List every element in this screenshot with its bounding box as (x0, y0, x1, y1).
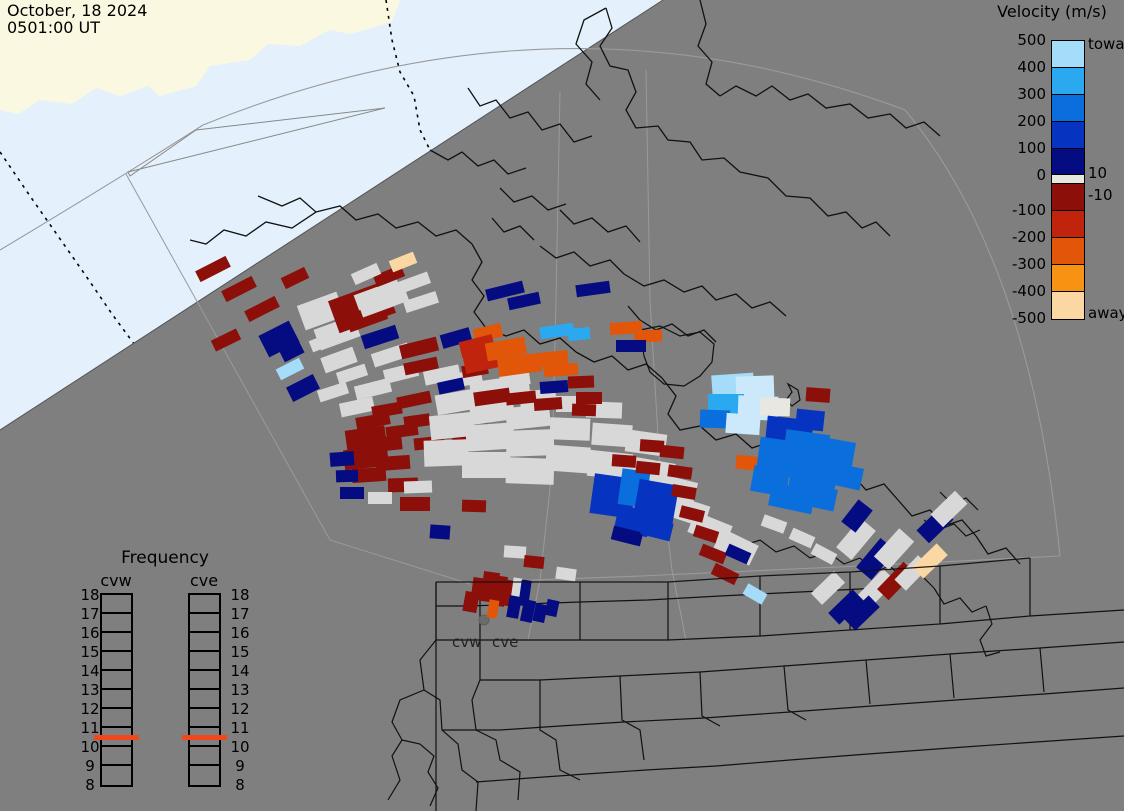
frequency-cell (190, 614, 219, 633)
frequency-scale-label: 14 (228, 662, 252, 680)
frequency-scale-label: 16 (78, 624, 102, 642)
velocity-colorbar-segment (1052, 265, 1084, 292)
radar-velocity-cell (545, 444, 591, 473)
frequency-scale-label: 14 (78, 662, 102, 680)
velocity-colorbar-segment (1052, 68, 1084, 95)
radar-velocity-cell (576, 392, 602, 404)
page-title-date: October, 18 2024 (7, 2, 147, 19)
velocity-tick-label: -400 (1012, 282, 1046, 300)
radar-velocity-cell (567, 327, 590, 341)
radar-velocity-cell (504, 545, 527, 559)
frequency-scale-label: 11 (228, 719, 252, 737)
radar-velocity-cell (700, 409, 731, 428)
frequency-scale-label: 10 (228, 738, 252, 756)
frequency-scale-label: 13 (228, 681, 252, 699)
velocity-colorbar-segment (1052, 211, 1084, 238)
frequency-cell (102, 652, 131, 671)
frequency-scale-label: 15 (228, 643, 252, 661)
frequency-scale-label: 8 (228, 776, 252, 794)
radar-velocity-cell (806, 387, 831, 403)
frequency-cell (190, 633, 219, 652)
radar-velocity-cell (404, 481, 432, 494)
frequency-scale-label: 10 (78, 738, 102, 756)
frequency-cell (190, 709, 219, 728)
radar-velocity-cell (550, 417, 591, 440)
velocity-colorbar-segment (1052, 95, 1084, 122)
velocity-colorbar-segment (1052, 122, 1084, 149)
radar-velocity-cell (330, 451, 355, 467)
radar-velocity-cell (544, 363, 579, 377)
superdarn-velocity-map: October, 18 2024 0501:00 UT Velocity (m/… (0, 0, 1124, 811)
radar-velocity-cell (376, 455, 411, 471)
velocity-tick-label: -100 (1012, 201, 1046, 219)
radar-velocity-cell (725, 413, 760, 435)
frequency-cell (102, 671, 131, 690)
velocity-tick-label: 100 (1017, 139, 1046, 157)
frequency-cell (102, 595, 131, 614)
velocity-legend-title: Velocity (m/s) (984, 2, 1120, 21)
velocity-colorbar-segment (1052, 238, 1084, 265)
radar-velocity-cell (424, 439, 469, 467)
velocity-toward-label: toward (1088, 35, 1124, 53)
velocity-legend: Velocity (m/s) 5004003002001000-100-200-… (980, 0, 1124, 340)
velocity-tick-label: 300 (1017, 85, 1046, 103)
velocity-colorbar-segment (1052, 149, 1084, 176)
velocity-colorbar-segment (1052, 41, 1084, 68)
velocity-tick-label: 200 (1017, 112, 1046, 130)
velocity-tick-label: -200 (1012, 228, 1046, 246)
frequency-scale-label: 17 (78, 605, 102, 623)
radar-velocity-cell (340, 487, 364, 499)
frequency-scale-label: 8 (78, 776, 102, 794)
radar-velocity-cell (820, 437, 856, 468)
radar-velocity-cell (616, 340, 646, 352)
frequency-scale-label: 17 (228, 605, 252, 623)
velocity-colorbar (1051, 40, 1085, 320)
frequency-scale-label: 9 (228, 757, 252, 775)
radar-velocity-cell (336, 470, 358, 483)
frequency-cell (102, 709, 131, 728)
radar-velocity-cell (462, 452, 510, 478)
frequency-legend: Frequency cvw cve 1818171716161515141413… (70, 545, 260, 790)
radar-velocity-cell (523, 555, 544, 569)
frequency-cell (102, 690, 131, 709)
frequency-cell (190, 766, 219, 785)
velocity-tick-label: 0 (1036, 166, 1046, 184)
radar-velocity-cell (635, 461, 660, 475)
frequency-cell (102, 747, 131, 766)
frequency-cell (190, 690, 219, 709)
velocity-away-label: away (1088, 304, 1124, 322)
radar-velocity-cell (572, 404, 596, 417)
frequency-scale-label: 15 (78, 643, 102, 661)
velocity-tick-label: 500 (1017, 31, 1046, 49)
velocity-zero-lower-label: -10 (1088, 186, 1113, 204)
radar-velocity-cell (568, 376, 594, 389)
frequency-scale-label: 13 (78, 681, 102, 699)
frequency-scale-label: 18 (78, 586, 102, 604)
frequency-cell (102, 766, 131, 785)
radar-velocity-cell (760, 397, 791, 416)
radar-velocity-cell (534, 397, 563, 411)
radar-velocity-cell (430, 524, 451, 539)
frequency-scale-label: 12 (228, 700, 252, 718)
radar-velocity-cell (612, 454, 637, 468)
frequency-bar-cve (188, 593, 221, 787)
radar-velocity-cell (462, 500, 486, 513)
radar-velocity-cell (400, 497, 430, 511)
frequency-marker (94, 735, 139, 740)
velocity-colorbar-segment (1052, 175, 1084, 184)
frequency-column-header-cve: cve (174, 571, 234, 590)
frequency-bar-cvw (100, 593, 133, 787)
radar-velocity-cell (659, 445, 684, 459)
velocity-zero-upper-label: 10 (1088, 164, 1107, 182)
frequency-cell (190, 595, 219, 614)
radar-velocity-cell (795, 409, 825, 432)
frequency-legend-title: Frequency (70, 548, 260, 568)
frequency-scale-label: 12 (78, 700, 102, 718)
frequency-scale-label: 9 (78, 757, 102, 775)
frequency-cell (190, 747, 219, 766)
radar-velocity-cell (368, 492, 392, 504)
velocity-tick-label: 400 (1017, 58, 1046, 76)
velocity-tick-label: -500 (1012, 309, 1046, 327)
radar-site-label-cvw: cvw (452, 633, 481, 651)
frequency-cell (102, 614, 131, 633)
page-title-time: 0501:00 UT (7, 19, 100, 36)
frequency-cell (190, 671, 219, 690)
frequency-scale-label: 18 (228, 586, 252, 604)
velocity-tick-label: -300 (1012, 255, 1046, 273)
frequency-cell (102, 633, 131, 652)
frequency-marker (182, 735, 227, 740)
radar-site-label-cve: cve (492, 633, 518, 651)
frequency-cell (190, 652, 219, 671)
velocity-colorbar-segment (1052, 292, 1084, 319)
velocity-colorbar-segment (1052, 184, 1084, 211)
radar-velocity-cell (540, 380, 569, 394)
frequency-scale-label: 16 (228, 624, 252, 642)
